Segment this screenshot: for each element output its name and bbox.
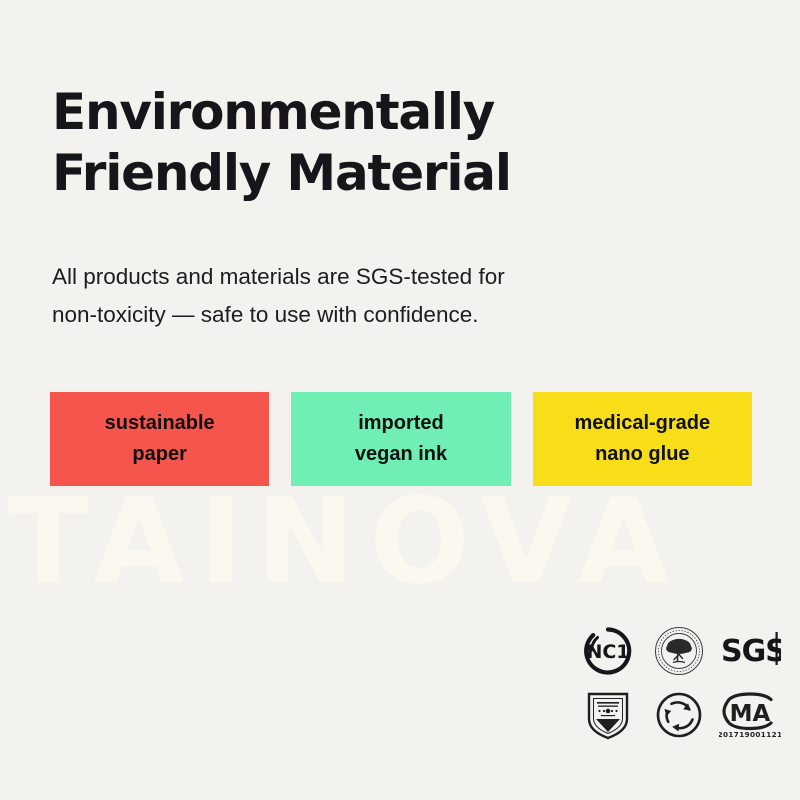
certification-badge-grid: NC1 SGS — [575, 620, 783, 746]
tag-label-line-2: paper — [132, 439, 186, 470]
material-tag-row: sustainable paper imported vegan ink med… — [50, 392, 752, 486]
nc1-certification-icon: NC1 — [577, 621, 639, 681]
tag-label-line-1: sustainable — [105, 408, 215, 439]
tree-seal-icon — [648, 621, 710, 681]
sgs-logo-icon: SGS — [719, 621, 781, 681]
tag-medical-grade-nano-glue: medical-grade nano glue — [533, 392, 752, 486]
tag-label-line-2: nano glue — [595, 439, 689, 470]
tag-label-line-1: medical-grade — [575, 408, 711, 439]
page-title-line-1: Environmentally — [52, 82, 752, 143]
svg-text:NC1: NC1 — [587, 641, 630, 663]
tag-imported-vegan-ink: imported vegan ink — [291, 392, 510, 486]
page-title-line-2: Friendly Material — [52, 143, 752, 204]
tag-label-line-1: imported — [358, 408, 444, 439]
shield-certification-icon — [577, 685, 639, 745]
description-line-2: non-toxicity — safe to use with confiden… — [52, 296, 672, 335]
svg-text:MA: MA — [729, 701, 770, 727]
svg-text:SGS: SGS — [721, 634, 781, 669]
brand-watermark: TAINOVA — [8, 482, 798, 600]
cma-certification-number: 201719001121 — [719, 730, 781, 739]
poster-canvas: TAINOVA Environmentally Friendly Materia… — [0, 0, 800, 800]
tag-sustainable-paper: sustainable paper — [50, 392, 269, 486]
recycle-arrows-icon — [648, 685, 710, 745]
page-title: Environmentally Friendly Material — [52, 82, 752, 204]
cma-certification-icon: MA 201719001121 — [719, 685, 781, 745]
description-line-1: All products and materials are SGS-teste… — [52, 258, 672, 297]
tag-label-line-2: vegan ink — [355, 439, 447, 470]
description-text: All products and materials are SGS-teste… — [52, 258, 672, 335]
